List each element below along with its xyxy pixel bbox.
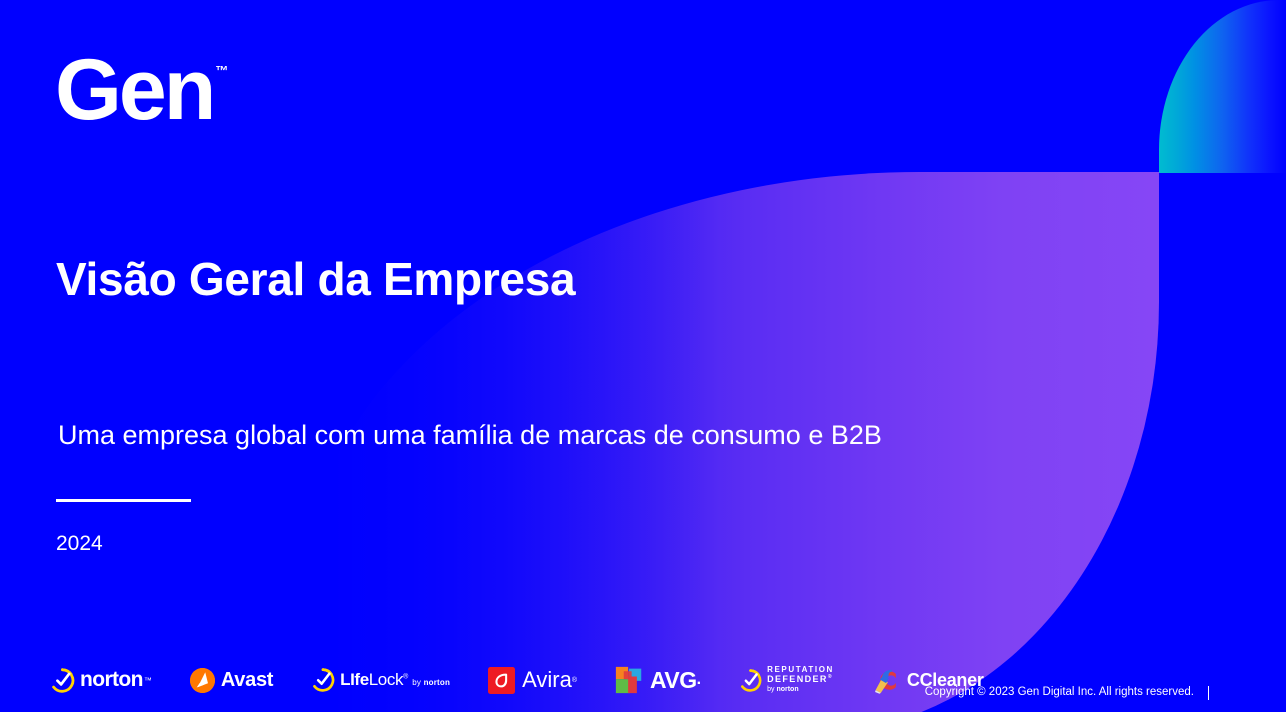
brand-name-avira: Avira (522, 667, 572, 693)
brand-logo-lifelock: LIfeLock® by norton (311, 660, 450, 700)
brand-name-avg: AVG (650, 667, 697, 694)
avira-trademark: ® (572, 677, 577, 684)
lifelock-byline: by norton (412, 678, 450, 687)
avg-name-dot: . (697, 671, 701, 689)
repdef-byline-brand: norton (776, 686, 798, 693)
page-subtitle: Uma empresa global com uma família de ma… (58, 420, 882, 451)
repdef-line-2: DEFENDER® (767, 675, 834, 684)
brand-logo-norton: norton ™ (50, 660, 152, 700)
avast-swoosh-icon (190, 668, 215, 693)
ccleaner-broom-icon (872, 667, 902, 693)
divider-rule (56, 499, 191, 502)
lifelock-byline-brand: norton (424, 678, 451, 687)
lifelock-byline-prefix: by (412, 678, 423, 687)
brand-logo-avg: AVG . (615, 660, 701, 700)
gen-logo: Gen ™ (55, 50, 228, 132)
page-title: Visão Geral da Empresa (56, 252, 575, 306)
lifelock-name-line: LIfeLock® (340, 670, 408, 689)
lifelock-name-bold: LIfe (340, 670, 369, 689)
copyright-text: Copyright © 2023 Gen Digital Inc. All ri… (925, 686, 1194, 698)
avira-square-icon (488, 667, 515, 694)
presentation-slide: Gen ™ Visão Geral da Empresa Uma empresa… (0, 0, 1286, 712)
norton-trademark: ™ (144, 676, 152, 685)
gen-wordmark: Gen (55, 50, 213, 132)
year-label: 2024 (56, 532, 103, 556)
reputation-defender-wordmark: REPUTATION DEFENDER® by norton (767, 666, 834, 693)
check-circle-icon (311, 668, 335, 692)
text-caret (1208, 686, 1209, 700)
lifelock-wordmark: LIfeLock® by norton (340, 671, 450, 689)
brand-name-norton: norton (80, 668, 143, 692)
lifelock-name-light: Lock (369, 670, 403, 689)
brand-logo-reputation-defender: REPUTATION DEFENDER® by norton (739, 660, 834, 700)
teal-gradient-arch (1159, 0, 1286, 173)
check-circle-icon (739, 669, 762, 692)
trademark-symbol: ™ (215, 64, 228, 77)
repdef-byline: by norton (767, 686, 834, 693)
repdef-line-2-text: DEFENDER (767, 674, 828, 684)
brand-logo-avira: Avira ® (488, 660, 577, 700)
brand-name-avast: Avast (221, 669, 273, 692)
lifelock-trademark: ® (403, 673, 408, 680)
repdef-trademark: ® (828, 674, 832, 680)
avg-squares-icon (615, 666, 643, 694)
brand-logo-bar: norton ™ Avast (50, 660, 984, 700)
check-circle-icon (50, 668, 75, 693)
brand-logo-avast: Avast (190, 660, 273, 700)
